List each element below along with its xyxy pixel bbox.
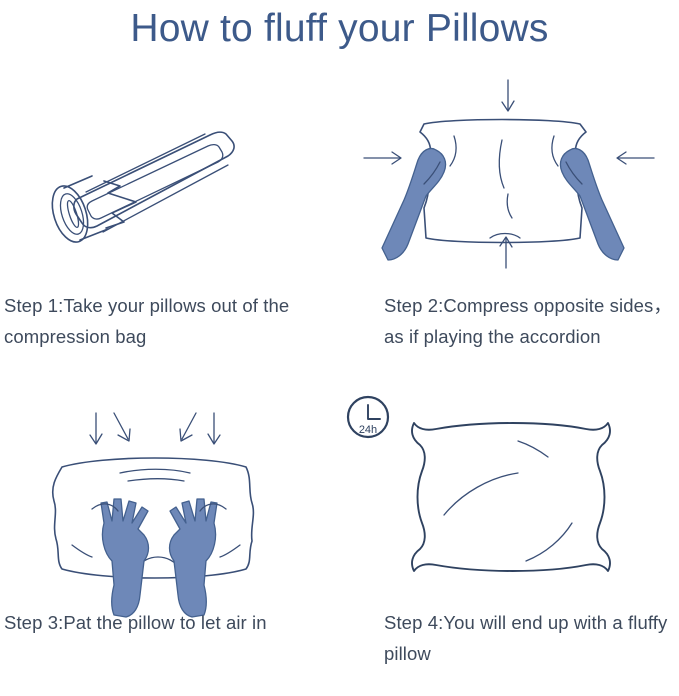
clock-24h-label: 24h: [359, 424, 377, 436]
steps-grid: Step 1:Take your pillows out of the comp…: [0, 62, 679, 696]
pat-pillow-illustration: [0, 395, 339, 625]
step-card-2: Step 2:Compress opposite sides，as if pla…: [340, 62, 679, 379]
fluffy-pillow-illustration: 24h: [340, 395, 679, 625]
step-caption-1: Step 1:Take your pillows out of the comp…: [4, 290, 334, 352]
compress-sides-illustration: [340, 62, 679, 292]
step-card-3: Step 3:Pat the pillow to let air in: [0, 379, 339, 696]
step-card-1: Step 1:Take your pillows out of the comp…: [0, 62, 339, 379]
step-caption-2: Step 2:Compress opposite sides，as if pla…: [384, 290, 679, 352]
step-card-4: 24h Step 4:You will end up with a fluffy…: [340, 379, 679, 696]
rolled-compression-bag-illustration: [0, 62, 339, 292]
step-caption-4: Step 4:You will end up with a fluffy pil…: [384, 607, 679, 669]
page-title: How to fluff your Pillows: [0, 0, 679, 62]
step-caption-3: Step 3:Pat the pillow to let air in: [4, 607, 334, 638]
clock-24h-badge: 24h: [348, 397, 388, 437]
